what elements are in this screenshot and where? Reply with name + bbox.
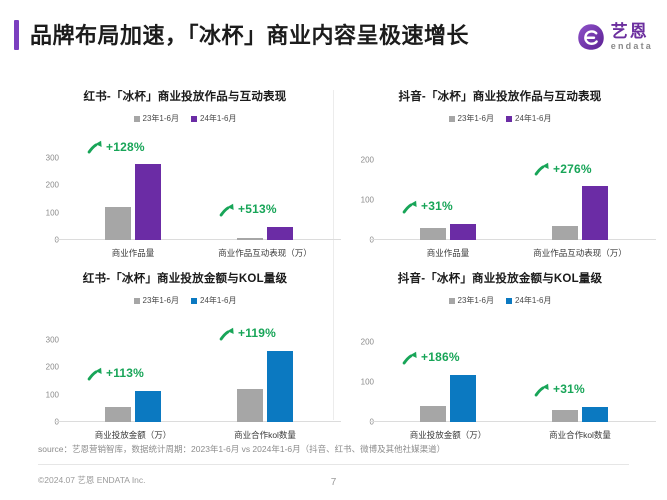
y-axis-tick: 0 xyxy=(340,418,374,427)
bars-wrapper xyxy=(520,314,640,422)
endata-e-logo-icon xyxy=(576,22,606,52)
growth-annotation: +128% xyxy=(87,138,145,155)
legend-item-0: 23年1-6月 xyxy=(449,295,494,306)
bar-group: 商业投放金额（万） xyxy=(388,314,508,422)
plot-area: 0100200 商业投放金额（万） +186% 商业合作kol数量 +31% xyxy=(340,314,658,426)
legend-label: 23年1-6月 xyxy=(458,295,494,306)
growth-value: +31% xyxy=(553,382,585,396)
growth-annotation: +513% xyxy=(219,201,277,218)
chart-grid: 红书-「冰杯」商业投放作品与互动表现 23年1-6月 24年1-6月 01002… xyxy=(0,80,667,435)
chart-panel-dy-works: 抖音-「冰杯」商业投放作品与互动表现 23年1-6月 24年1-6月 01002… xyxy=(340,86,660,256)
x-axis-category-label: 商业投放金额（万） xyxy=(410,429,487,441)
legend-item-1: 24年1-6月 xyxy=(191,295,236,306)
legend-label: 23年1-6月 xyxy=(458,113,494,124)
y-axis-tick: 100 xyxy=(25,208,59,217)
x-axis-category-label: 商业作品互动表现（万） xyxy=(218,247,312,259)
bars-wrapper xyxy=(205,132,325,240)
growth-arrow-icon xyxy=(87,365,104,382)
bar-series-0[interactable] xyxy=(552,226,578,240)
growth-annotation: +186% xyxy=(402,349,460,366)
bar-series-0[interactable] xyxy=(105,207,131,240)
growth-annotation: +113% xyxy=(87,365,144,382)
bar-series-1[interactable] xyxy=(135,164,161,240)
growth-value: +119% xyxy=(238,326,276,340)
bar-series-1[interactable] xyxy=(135,391,161,422)
y-axis-tick: 300 xyxy=(25,336,59,345)
growth-value: +113% xyxy=(106,366,144,380)
chart-legend: 23年1-6月 24年1-6月 xyxy=(25,295,345,306)
x-axis-category-label: 商业合作kol数量 xyxy=(549,429,611,441)
slide-header: 品牌布局加速，「冰杯」商业内容呈极速增长 艺恩 endata xyxy=(0,0,667,72)
y-axis-tick: 0 xyxy=(25,418,59,427)
legend-item-1: 24年1-6月 xyxy=(506,295,551,306)
y-axis-tick: 200 xyxy=(340,156,374,165)
page-number: 7 xyxy=(0,477,667,488)
legend-swatch-icon xyxy=(506,116,512,122)
x-axis-category-label: 商业投放金额（万） xyxy=(95,429,172,441)
bar-series-0[interactable] xyxy=(237,238,263,240)
chart-panel-xhs-works: 红书-「冰杯」商业投放作品与互动表现 23年1-6月 24年1-6月 01002… xyxy=(25,86,345,256)
growth-arrow-icon xyxy=(402,198,419,215)
growth-value: +276% xyxy=(553,162,592,176)
logo-text-cn: 艺恩 xyxy=(611,23,653,40)
bar-group: 商业作品互动表现（万） xyxy=(520,132,640,240)
legend-label: 24年1-6月 xyxy=(515,295,551,306)
chart-legend: 23年1-6月 24年1-6月 xyxy=(25,113,345,124)
chart-title: 抖音-「冰杯」商业投放金额与KOL量级 xyxy=(340,268,660,286)
bar-group: 商业作品互动表现（万） xyxy=(205,132,325,240)
bar-series-0[interactable] xyxy=(552,410,578,422)
bar-series-1[interactable] xyxy=(582,407,608,422)
legend-swatch-icon xyxy=(506,298,512,304)
bar-series-0[interactable] xyxy=(420,406,446,422)
chart-panel-xhs-spend: 红书-「冰杯」商业投放金额与KOL量级 23年1-6月 24年1-6月 0100… xyxy=(25,268,345,438)
growth-value: +186% xyxy=(421,350,460,364)
growth-arrow-icon xyxy=(87,138,104,155)
footer-divider xyxy=(38,464,629,465)
growth-value: +128% xyxy=(106,140,145,154)
chart-title: 红书-「冰杯」商业投放作品与互动表现 xyxy=(25,86,345,104)
bar-series-0[interactable] xyxy=(105,407,131,422)
logo-text-en: endata xyxy=(611,42,653,51)
y-axis-tick: 100 xyxy=(25,390,59,399)
growth-annotation: +276% xyxy=(534,160,592,177)
x-axis-category-label: 商业作品量 xyxy=(112,247,155,259)
bar-series-0[interactable] xyxy=(237,389,263,422)
title-accent-bar xyxy=(14,20,19,50)
growth-arrow-icon xyxy=(534,160,551,177)
page-title: 品牌布局加速，「冰杯」商业内容呈极速增长 xyxy=(30,18,469,50)
bar-series-1[interactable] xyxy=(267,351,293,422)
legend-label: 23年1-6月 xyxy=(143,295,179,306)
growth-value: +31% xyxy=(421,199,453,213)
growth-annotation: +31% xyxy=(402,198,453,215)
legend-swatch-icon xyxy=(191,116,197,122)
growth-annotation: +119% xyxy=(219,325,276,342)
growth-arrow-icon xyxy=(219,325,236,342)
legend-swatch-icon xyxy=(134,298,140,304)
bars-wrapper xyxy=(520,132,640,240)
legend-swatch-icon xyxy=(449,298,455,304)
legend-item-0: 23年1-6月 xyxy=(134,295,179,306)
legend-label: 23年1-6月 xyxy=(143,113,179,124)
legend-label: 24年1-6月 xyxy=(200,113,236,124)
y-axis-tick: 200 xyxy=(340,338,374,347)
legend-item-0: 23年1-6月 xyxy=(449,113,494,124)
legend-item-1: 24年1-6月 xyxy=(506,113,551,124)
chart-panel-dy-spend: 抖音-「冰杯」商业投放金额与KOL量级 23年1-6月 24年1-6月 0100… xyxy=(340,268,660,438)
bar-group: 商业合作kol数量 xyxy=(520,314,640,422)
legend-swatch-icon xyxy=(191,298,197,304)
plot-area: 0100200300 商业投放金额（万） +113% 商业合作kol数量 +11… xyxy=(25,314,343,426)
brand-logo: 艺恩 endata xyxy=(576,22,653,52)
y-axis-tick: 300 xyxy=(25,154,59,163)
y-axis-tick: 100 xyxy=(340,196,374,205)
y-axis-tick: 0 xyxy=(340,236,374,245)
growth-value: +513% xyxy=(238,202,277,216)
bar-series-1[interactable] xyxy=(582,186,608,240)
legend-swatch-icon xyxy=(134,116,140,122)
bar-series-0[interactable] xyxy=(420,228,446,240)
y-axis-tick: 200 xyxy=(25,181,59,190)
chart-title: 抖音-「冰杯」商业投放作品与互动表现 xyxy=(340,86,660,104)
bar-series-1[interactable] xyxy=(450,375,476,422)
legend-item-1: 24年1-6月 xyxy=(191,113,236,124)
growth-arrow-icon xyxy=(219,201,236,218)
growth-annotation: +31% xyxy=(534,381,585,398)
x-axis-category-label: 商业作品量 xyxy=(427,247,470,259)
plot-area: 0100200 商业作品量 +31% 商业作品互动表现（万） +276% xyxy=(340,132,658,244)
bar-series-1[interactable] xyxy=(450,224,476,240)
growth-arrow-icon xyxy=(534,381,551,398)
plot-area: 0100200300 商业作品量 +128% 商业作品互动表现（万） +513% xyxy=(25,132,343,244)
x-axis-category-label: 商业合作kol数量 xyxy=(234,429,296,441)
bars-wrapper xyxy=(388,314,508,422)
legend-label: 24年1-6月 xyxy=(515,113,551,124)
bar-series-1[interactable] xyxy=(267,227,293,240)
chart-legend: 23年1-6月 24年1-6月 xyxy=(340,295,660,306)
bars-wrapper xyxy=(388,132,508,240)
chart-legend: 23年1-6月 24年1-6月 xyxy=(340,113,660,124)
legend-swatch-icon xyxy=(449,116,455,122)
y-axis-tick: 0 xyxy=(25,236,59,245)
growth-arrow-icon xyxy=(402,349,419,366)
y-axis-tick: 200 xyxy=(25,363,59,372)
chart-title: 红书-「冰杯」商业投放金额与KOL量级 xyxy=(25,268,345,286)
source-note: source：艺恩营销智库，数据统计周期：2023年1-6月 vs 2024年1… xyxy=(38,443,445,455)
legend-item-0: 23年1-6月 xyxy=(134,113,179,124)
x-axis-category-label: 商业作品互动表现（万） xyxy=(533,247,627,259)
bar-group: 商业作品量 xyxy=(388,132,508,240)
legend-label: 24年1-6月 xyxy=(200,295,236,306)
y-axis-tick: 100 xyxy=(340,378,374,387)
